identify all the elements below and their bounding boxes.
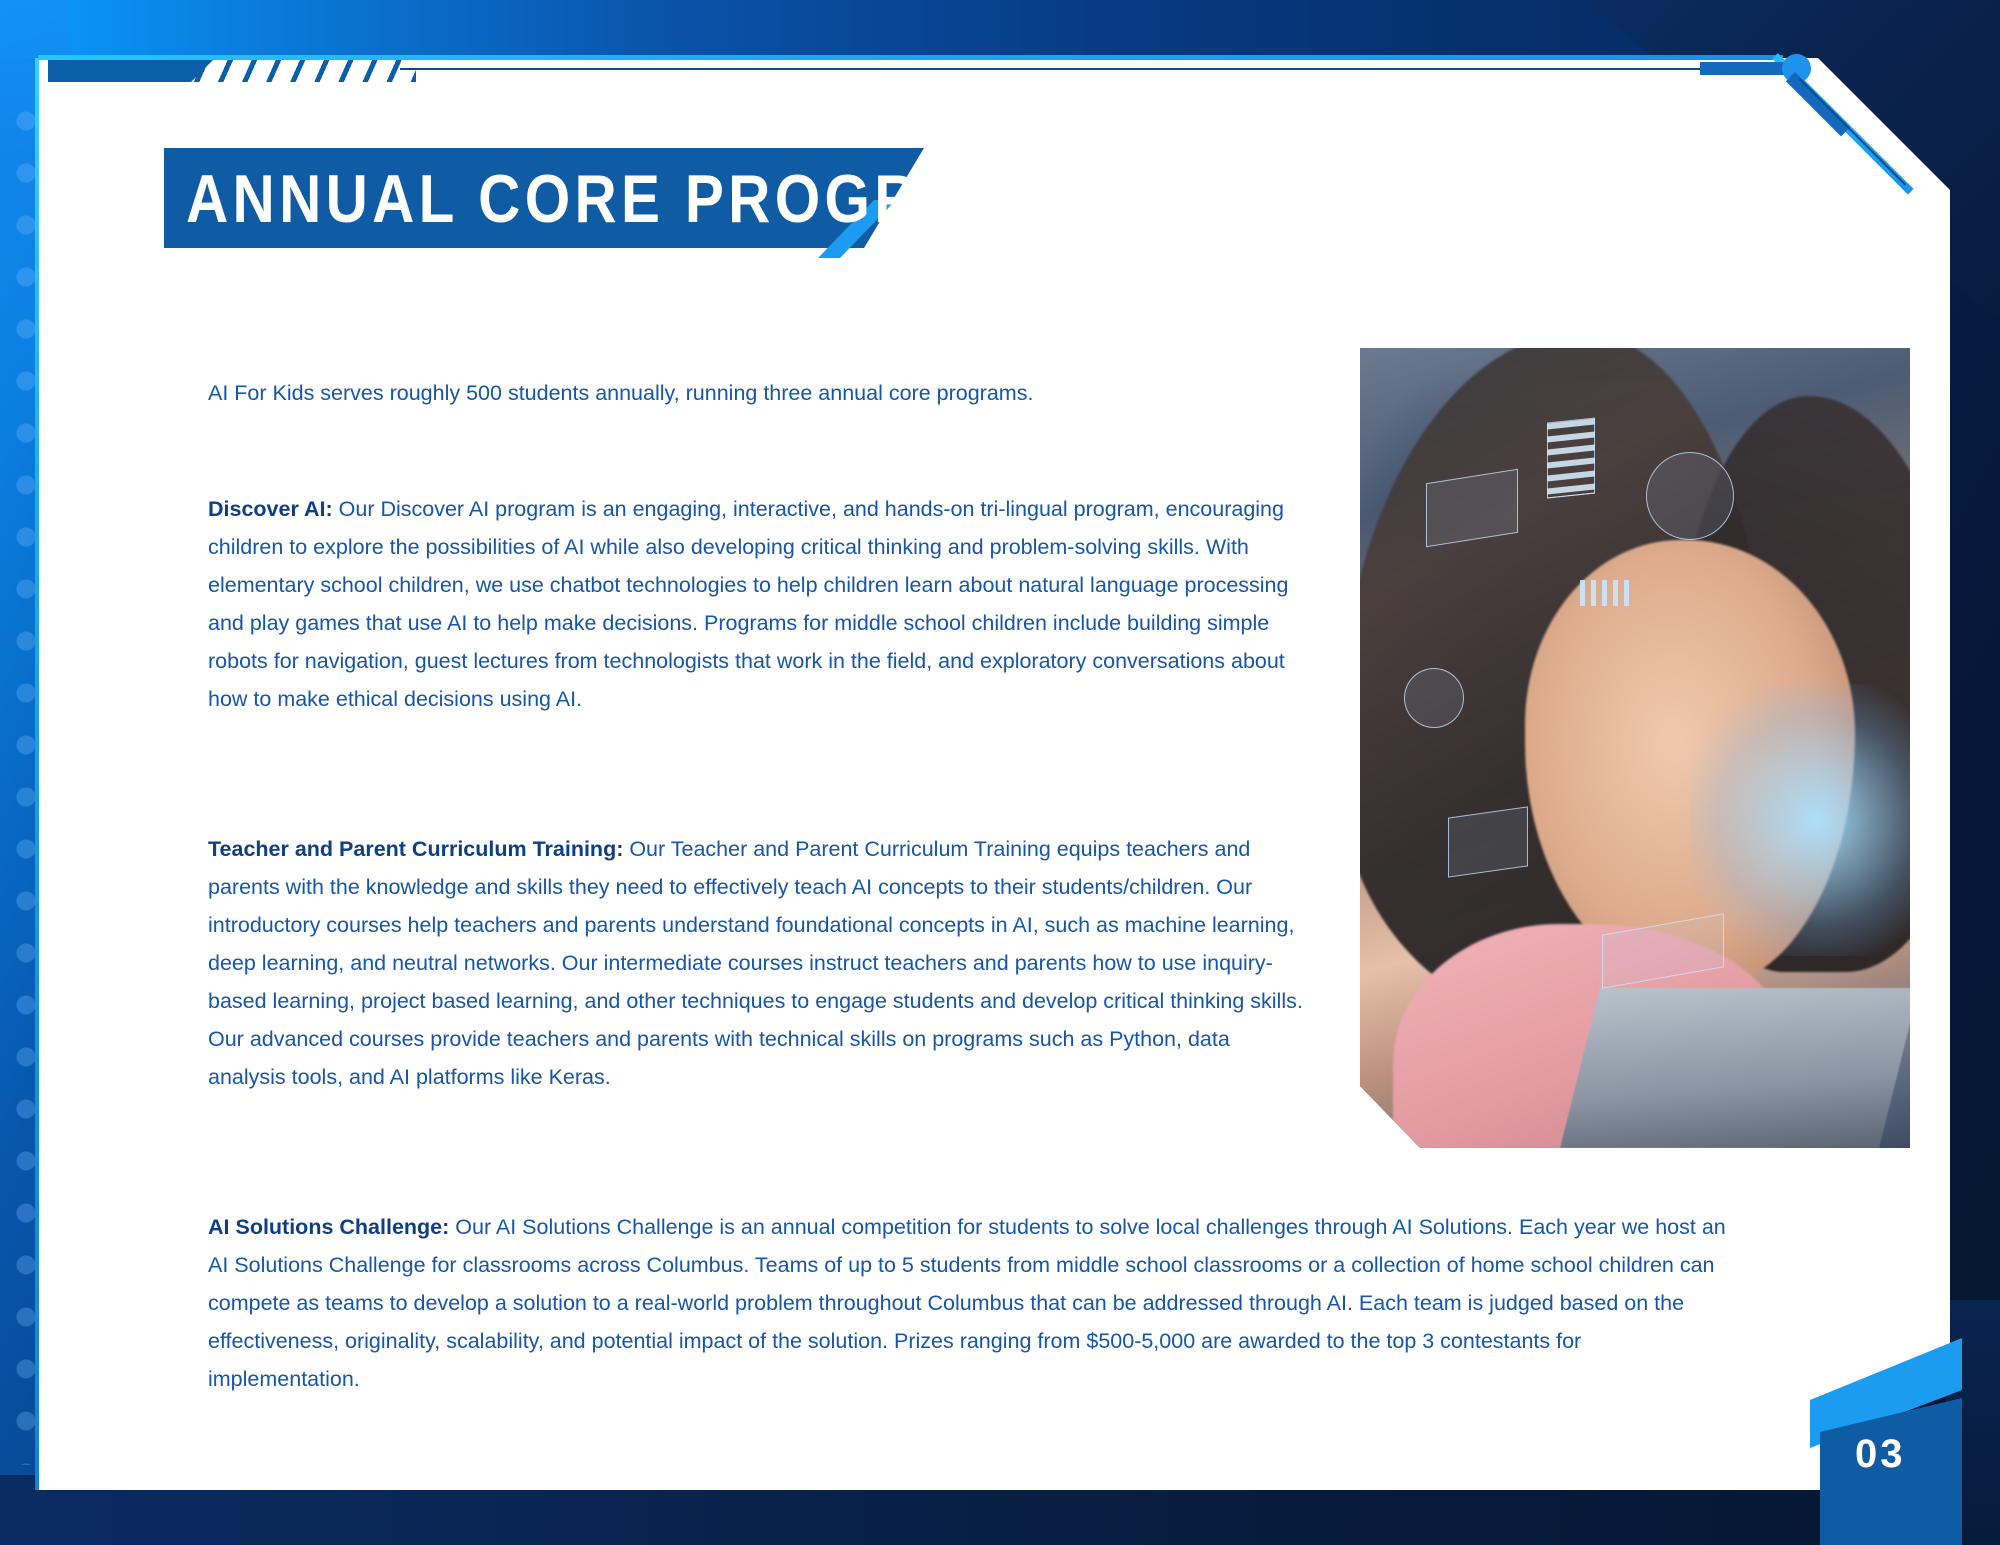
hologram-chart-icon <box>1580 580 1632 606</box>
photo-laptop <box>1560 988 1910 1148</box>
section-lead-in-ai-solutions-challenge: AI Solutions Challenge: <box>208 1215 449 1239</box>
hologram-circle-icon <box>1404 668 1464 728</box>
section-body-ai-solutions-challenge: Our AI Solutions Challenge is an annual … <box>208 1215 1726 1391</box>
child-with-ai-holograms-photo <box>1360 348 1910 1148</box>
hologram-bars-icon <box>1547 417 1595 498</box>
section-lead-in-teacher-training: Teacher and Parent Curriculum Training: <box>208 837 623 861</box>
section-paragraph-ai-solutions-challenge: AI Solutions Challenge: Our AI Solutions… <box>208 1208 1738 1398</box>
page-title: ANNUAL CORE PROGRAMS <box>186 160 788 238</box>
header-node-bar-horizontal <box>1700 62 1788 75</box>
section-paragraph-teacher-training: Teacher and Parent Curriculum Training: … <box>208 830 1313 1096</box>
card-left-edge-line <box>35 58 39 1490</box>
header-thin-rule <box>400 68 1725 70</box>
slide-page: ANNUAL CORE PROGRAMS AI For Kids serves … <box>0 0 2000 1545</box>
hologram-panel-lower-icon <box>1448 806 1528 877</box>
section-body-teacher-training: Our Teacher and Parent Curriculum Traini… <box>208 837 1303 1089</box>
page-number: 03 <box>1855 1432 1945 1477</box>
section-lead-in-discover-ai: Discover AI: <box>208 497 333 521</box>
section-body-discover-ai: Our Discover AI program is an engaging, … <box>208 497 1288 711</box>
section-paragraph-discover-ai: Discover AI: Our Discover AI program is … <box>208 490 1313 718</box>
photo-light-flare <box>1690 684 1910 956</box>
hologram-brain-circle-icon <box>1646 452 1734 540</box>
header-hatch-marks <box>168 60 416 82</box>
intro-paragraph: AI For Kids serves roughly 500 students … <box>208 374 1218 412</box>
